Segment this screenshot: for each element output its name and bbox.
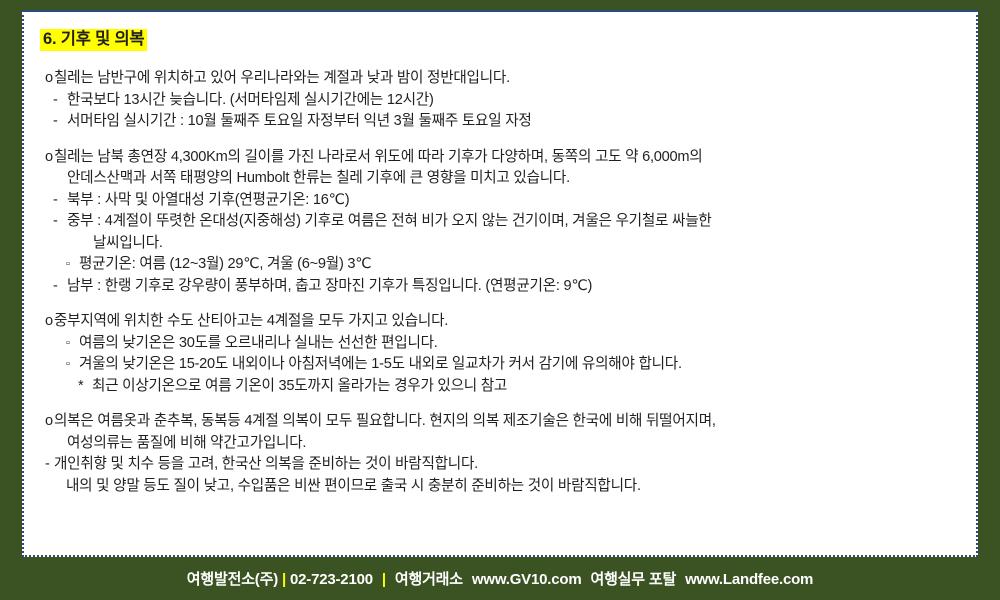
- bullet-text: 날씨입니다.: [93, 233, 163, 255]
- bullet-text: 내의 및 양말 등도 질이 낮고, 수입품은 비싼 편이므로 출국 시 충분히 …: [66, 476, 641, 498]
- bullet-marker-dash: -: [53, 276, 67, 298]
- bullet-text: 남부 : 한랭 기후로 강우량이 풍부하며, 춥고 장마진 기후가 특징입니다.…: [67, 276, 592, 298]
- bullet-text: 칠레는 남북 총연장 4,300Km의 길이를 가진 나라로서 위도에 따라 기…: [54, 147, 702, 169]
- footer-company: 여행발전소(주): [187, 571, 278, 588]
- bullet-line: o 칠레는 남북 총연장 4,300Km의 길이를 가진 나라로서 위도에 따라…: [40, 147, 968, 169]
- slide-body: o 칠레는 남반구에 위치하고 있어 우리나라와는 계절과 낮과 밤이 정반대입…: [40, 68, 968, 497]
- bullet-line: - 한국보다 13시간 늦습니다. (서머타임제 실시기간에는 12시간): [40, 90, 968, 112]
- footer-separator: |: [378, 571, 390, 588]
- bullet-text: 겨울의 낮기온은 15-20도 내외이나 아침저녁에는 1-5도 내외로 일교차…: [79, 354, 682, 376]
- bullet-line: o 칠레는 남반구에 위치하고 있어 우리나라와는 계절과 낮과 밤이 정반대입…: [40, 68, 968, 90]
- footer-exchange-label: 여행거래소: [395, 571, 463, 588]
- bullet-text: 여성의류는 품질에 비해 약간고가입니다.: [67, 433, 306, 455]
- continuation-line: 안데스산맥과 서쪽 태평양의 Humbolt 한류는 칠레 기후에 큰 영향을 …: [40, 168, 968, 190]
- page-title: 6. 기후 및 의복: [40, 29, 147, 51]
- footer-exchange-url[interactable]: www.GV10.com: [472, 571, 582, 588]
- bullet-marker-circle: o: [40, 68, 54, 90]
- bullet-line: - 남부 : 한랭 기후로 강우량이 풍부하며, 춥고 장마진 기후가 특징입니…: [40, 276, 968, 298]
- bullet-line: o 중부지역에 위치한 수도 산티아고는 4계절을 모두 가지고 있습니다.: [40, 311, 968, 333]
- bullet-text: 의복은 여름옷과 춘추복, 동복등 4계절 의복이 모두 필요합니다. 현지의 …: [54, 411, 716, 433]
- bullet-marker-dash: -: [40, 454, 54, 476]
- section-climate: o 칠레는 남북 총연장 4,300Km의 길이를 가진 나라로서 위도에 따라…: [40, 147, 968, 298]
- bullet-marker-dash: -: [53, 111, 67, 133]
- bullet-text: 중부 : 4계절이 뚜렷한 온대성(지중해성) 기후로 여름은 전혀 비가 오지…: [67, 211, 712, 233]
- bullet-marker-square: ▫: [66, 254, 79, 276]
- continuation-line: 여성의류는 품질에 비해 약간고가입니다.: [40, 433, 968, 455]
- bullet-marker-square: ▫: [66, 333, 79, 355]
- bullet-text: 한국보다 13시간 늦습니다. (서머타임제 실시기간에는 12시간): [67, 90, 434, 112]
- bullet-line: ▫ 여름의 낮기온은 30도를 오르내리나 실내는 선선한 편입니다.: [40, 333, 968, 355]
- bullet-text: 중부지역에 위치한 수도 산티아고는 4계절을 모두 가지고 있습니다.: [54, 311, 448, 333]
- bullet-text: 안데스산맥과 서쪽 태평양의 Humbolt 한류는 칠레 기후에 큰 영향을 …: [67, 168, 570, 190]
- bullet-text: 칠레는 남반구에 위치하고 있어 우리나라와는 계절과 낮과 밤이 정반대입니다…: [54, 68, 510, 90]
- section-timezone: o 칠레는 남반구에 위치하고 있어 우리나라와는 계절과 낮과 밤이 정반대입…: [40, 68, 968, 133]
- bullet-marker-dash: -: [53, 90, 67, 112]
- bullet-marker-dash: -: [53, 190, 67, 212]
- bullet-marker-asterisk: *: [78, 376, 92, 398]
- footer-phone: 02-723-2100: [290, 571, 373, 588]
- footer-portal-label: 여행실무 포탈: [590, 571, 676, 588]
- bullet-text: 서머타임 실시기간 : 10월 둘째주 토요일 자정부터 익년 3월 둘째주 토…: [67, 111, 532, 133]
- bullet-line: * 최근 이상기온으로 여름 기온이 35도까지 올라가는 경우가 있으니 참고: [40, 376, 968, 398]
- bullet-marker-square: ▫: [66, 354, 79, 376]
- bullet-line: o 의복은 여름옷과 춘추복, 동복등 4계절 의복이 모두 필요합니다. 현지…: [40, 411, 968, 433]
- bullet-text: 평균기온: 여름 (12~3월) 29℃, 겨울 (6~9월) 3℃: [79, 254, 371, 276]
- section-spacer: [40, 397, 968, 411]
- bullet-marker-dash: -: [53, 211, 67, 233]
- page-title-text: 6. 기후 및 의복: [40, 29, 147, 51]
- bullet-text: 최근 이상기온으로 여름 기온이 35도까지 올라가는 경우가 있으니 참고: [92, 376, 507, 398]
- footer-portal-url[interactable]: www.Landfee.com: [685, 571, 813, 588]
- section-santiago: o 중부지역에 위치한 수도 산티아고는 4계절을 모두 가지고 있습니다. ▫…: [40, 311, 968, 397]
- continuation-line: 날씨입니다.: [40, 233, 968, 255]
- footer-bar: 여행발전소(주)|02-723-2100|여행거래소www.GV10.com여행…: [0, 557, 1000, 600]
- bullet-line: - 서머타임 실시기간 : 10월 둘째주 토요일 자정부터 익년 3월 둘째주…: [40, 111, 968, 133]
- bullet-marker-circle: o: [40, 411, 54, 433]
- slide-sheet: 6. 기후 및 의복 o 칠레는 남반구에 위치하고 있어 우리나라와는 계절과…: [22, 10, 978, 557]
- bullet-line: ▫ 겨울의 낮기온은 15-20도 내외이나 아침저녁에는 1-5도 내외로 일…: [40, 354, 968, 376]
- bullet-text: 북부 : 사막 및 아열대성 기후(연평균기온: 16℃): [67, 190, 349, 212]
- footer-content: 여행발전소(주)|02-723-2100|여행거래소www.GV10.com여행…: [187, 568, 813, 589]
- bullet-line: - 북부 : 사막 및 아열대성 기후(연평균기온: 16℃): [40, 190, 968, 212]
- bullet-marker-circle: o: [40, 147, 54, 169]
- bullet-text: 개인취향 및 치수 등을 고려, 한국산 의복을 준비하는 것이 바람직합니다.: [54, 454, 478, 476]
- bullet-line: ▫ 평균기온: 여름 (12~3월) 29℃, 겨울 (6~9월) 3℃: [40, 254, 968, 276]
- bullet-line: - 개인취향 및 치수 등을 고려, 한국산 의복을 준비하는 것이 바람직합니…: [40, 454, 968, 476]
- footer-separator: |: [278, 571, 290, 588]
- section-spacer: [40, 297, 968, 311]
- bullet-line: - 중부 : 4계절이 뚜렷한 온대성(지중해성) 기후로 여름은 전혀 비가 …: [40, 211, 968, 233]
- bullet-text: 여름의 낮기온은 30도를 오르내리나 실내는 선선한 편입니다.: [79, 333, 438, 355]
- bullet-marker-circle: o: [40, 311, 54, 333]
- section-spacer: [40, 133, 968, 147]
- section-clothing: o 의복은 여름옷과 춘추복, 동복등 4계절 의복이 모두 필요합니다. 현지…: [40, 411, 968, 497]
- continuation-line: 내의 및 양말 등도 질이 낮고, 수입품은 비싼 편이므로 출국 시 충분히 …: [40, 476, 968, 498]
